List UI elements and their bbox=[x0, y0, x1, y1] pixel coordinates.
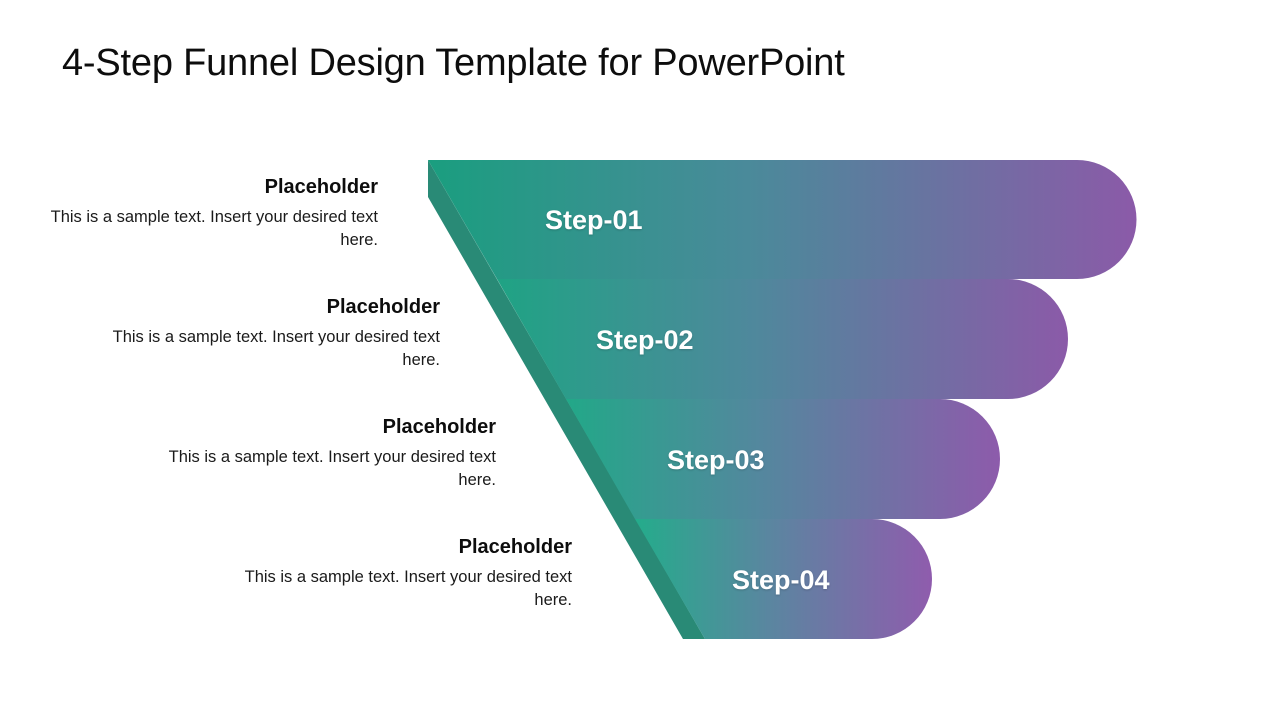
description-block-2: Placeholder This is a sample text. Inser… bbox=[110, 295, 440, 373]
description-block-3: Placeholder This is a sample text. Inser… bbox=[166, 415, 496, 493]
description-title-1: Placeholder bbox=[48, 175, 378, 199]
description-title-4: Placeholder bbox=[242, 535, 572, 559]
funnel-step-label-2: Step-02 bbox=[596, 325, 694, 356]
funnel-bar-2 bbox=[497, 279, 1068, 399]
funnel-step-label-1: Step-01 bbox=[545, 205, 643, 236]
description-block-1: Placeholder This is a sample text. Inser… bbox=[48, 175, 378, 253]
page-title: 4-Step Funnel Design Template for PowerP… bbox=[62, 42, 845, 85]
funnel-step-label-4: Step-04 bbox=[732, 565, 830, 596]
funnel-bar-1 bbox=[428, 160, 1137, 279]
description-title-2: Placeholder bbox=[110, 295, 440, 319]
funnel-step-label-3: Step-03 bbox=[667, 445, 765, 476]
description-body-2: This is a sample text. Insert your desir… bbox=[110, 326, 440, 373]
description-body-1: This is a sample text. Insert your desir… bbox=[48, 206, 378, 253]
description-block-4: Placeholder This is a sample text. Inser… bbox=[242, 535, 572, 613]
description-title-3: Placeholder bbox=[166, 415, 496, 439]
funnel-bar-3 bbox=[566, 399, 1000, 519]
slide-canvas: 4-Step Funnel Design Template for PowerP… bbox=[0, 0, 1280, 720]
description-body-3: This is a sample text. Insert your desir… bbox=[166, 446, 496, 493]
description-body-4: This is a sample text. Insert your desir… bbox=[242, 566, 572, 613]
